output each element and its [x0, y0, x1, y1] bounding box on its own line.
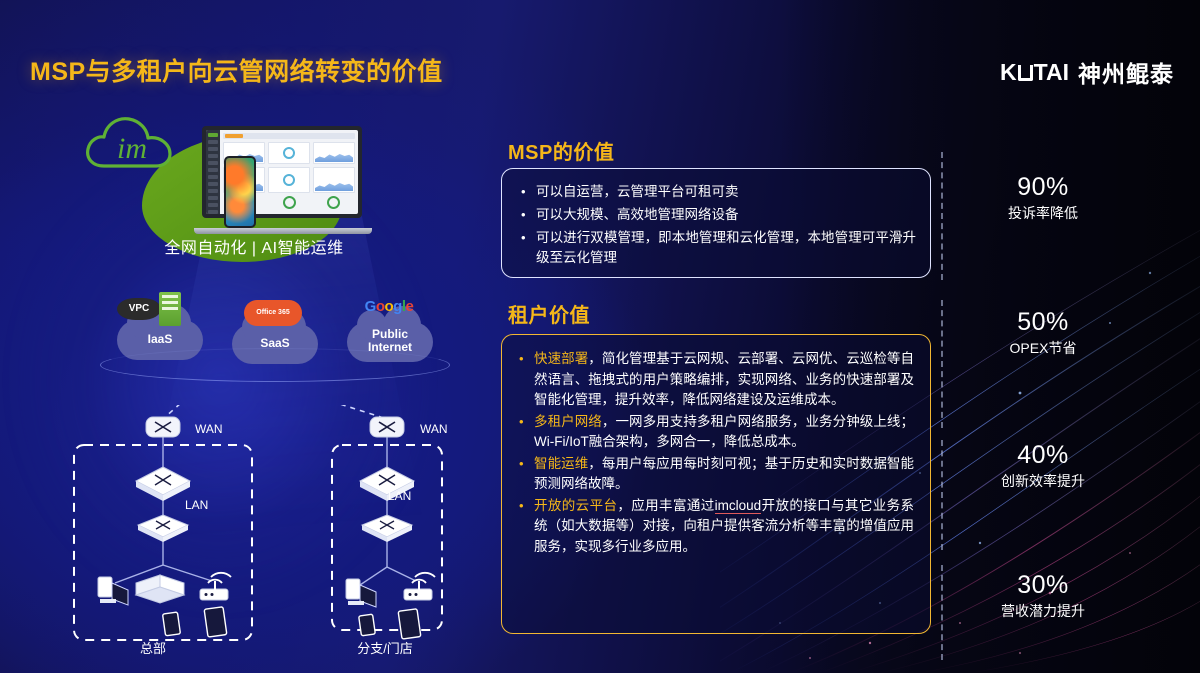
network-topology-diagram [60, 405, 480, 660]
gauge-icon [283, 196, 296, 209]
msp-bullet-list: 可以自运营，云管理平台可租可卖 可以大规模、高效地管理网络设备 可以进行双模管理… [502, 169, 930, 268]
brand-logo: K TAI 神州鲲泰 [1000, 55, 1174, 89]
stat-label: OPEX节省 [948, 338, 1138, 358]
list-item: 多租户网络，一网多用支持多租户网络服务，业务分钟级上线；Wi-Fi/IoT融合架… [514, 412, 914, 453]
im-cloud-logo-icon: im [84, 108, 184, 180]
cloud-label: SaaS [232, 337, 318, 350]
msp-value-panel: 可以自运营，云管理平台可租可卖 可以大规模、高效地管理网络设备 可以进行双模管理… [501, 168, 931, 278]
stat-item-2: 50% OPEX节省 [948, 307, 1138, 358]
dashboard-sidebar [206, 130, 220, 214]
page-title: MSP与多租户向云管网络转变的价值 [30, 52, 443, 88]
logo-chinese-name: 神州鲲泰 [1078, 55, 1174, 89]
workstation-branch [346, 579, 376, 607]
lan-label-branch: LAN [388, 489, 411, 503]
dashboard-card [268, 167, 310, 193]
wireless-ap-hq [200, 573, 231, 600]
dashboard-card [313, 167, 355, 193]
msp-section-title: MSP的价值 [508, 136, 614, 165]
list-item: 快速部署，简化管理基于云网规、云部署、云网优、云巡检等自然语言、拖拽式的用户策略… [514, 349, 914, 411]
cloud-label: IaaS [117, 333, 203, 346]
list-item: 可以自运营，云管理平台可租可卖 [516, 182, 916, 202]
stat-label: 创新效率提升 [948, 471, 1138, 491]
office365-badge: Office 365 [244, 300, 302, 326]
site-label-hq: 总部 [93, 638, 213, 657]
stat-label: 投诉率降低 [948, 203, 1138, 223]
gauge-icon [327, 196, 340, 209]
google-letter: g [393, 298, 402, 315]
stat-label: 营收潜力提升 [948, 601, 1138, 621]
lan-label-hq: LAN [185, 498, 208, 512]
wan-label-branch: WAN [420, 422, 448, 436]
logo-letter-u [1018, 65, 1033, 81]
switch-access-branch [362, 515, 412, 542]
stat-value: 90% [948, 172, 1138, 202]
dashboard-card [268, 142, 310, 164]
site-label-branch: 分支/门店 [325, 638, 445, 657]
laptop-device [194, 126, 372, 234]
list-item: 开放的云平台，应用丰富通过imcloud开放的接口与其它业务系统（如大数据等）对… [514, 496, 914, 558]
cloud-label: Public Internet [347, 328, 433, 354]
bullet-keyword: 智能运维 [534, 456, 588, 471]
stat-value: 50% [948, 307, 1138, 337]
tenant-section-title: 租户价值 [508, 299, 590, 328]
tablet-branch-1 [359, 614, 376, 636]
list-item: 智能运维，每用户每应用每时刻可视；基于历史和实时数据智能预测网络故障。 [514, 454, 914, 495]
phone-device [224, 156, 256, 228]
stats-divider-3 [941, 440, 943, 550]
google-badge: Google [351, 298, 427, 315]
tenant-bullet-list: 快速部署，简化管理基于云网规、云部署、云网优、云巡检等自然语言、拖拽式的用户策略… [502, 335, 930, 557]
stat-value: 30% [948, 570, 1138, 600]
illustration-caption: 全网自动化 | AI智能运维 [84, 234, 424, 258]
server-icon [159, 292, 181, 326]
logo-letters-tai: TAI [1034, 59, 1069, 86]
dashboard-topbar [223, 133, 355, 139]
logo-wordmark: K TAI [1000, 59, 1069, 86]
dashboard-card [313, 142, 355, 164]
phone-heatmap-screen [226, 158, 254, 226]
stat-item-1: 90% 投诉率降低 [948, 172, 1138, 223]
switch-access-hq [138, 515, 188, 542]
stat-value: 40% [948, 440, 1138, 470]
switch-core-hq [136, 467, 190, 501]
router-wan-hq [146, 417, 180, 437]
workstation-hq [98, 577, 128, 605]
bullet-keyword: 多租户网络 [534, 414, 602, 429]
stats-divider-1 [941, 152, 943, 280]
tablet-hq-1 [163, 612, 181, 636]
bullet-keyword: 快速部署 [534, 351, 588, 366]
bullet-keyword: 开放的云平台 [534, 498, 617, 513]
slide-root: MSP与多租户向云管网络转变的价值 K TAI 神州鲲泰 im [0, 0, 1200, 673]
logo-letter-k: K [1000, 59, 1017, 86]
stats-divider-2 [941, 300, 943, 428]
stats-divider-4 [941, 565, 943, 660]
google-letter: o [384, 298, 393, 315]
bullet-underlined-term: imcloud [715, 498, 762, 514]
cloud-services-group: VPC IaaS Office 365 SaaS Google Public I… [100, 300, 450, 380]
vpc-badge: VPC [117, 298, 161, 320]
cloud-label-line2: Internet [347, 341, 433, 354]
server-hq [136, 575, 184, 603]
tablet-hq-2 [204, 607, 227, 637]
wan-label-hq: WAN [195, 422, 223, 436]
tenant-value-panel: 快速部署，简化管理基于云网规、云部署、云网优、云巡检等自然语言、拖拽式的用户策略… [501, 334, 931, 634]
list-item: 可以进行双模管理，即本地管理和云化管理，本地管理可平滑升级至云化管理 [516, 228, 916, 268]
svg-text:im: im [117, 132, 147, 165]
stat-item-3: 40% 创新效率提升 [948, 440, 1138, 491]
router-wan-branch [370, 417, 404, 437]
tablet-branch-2 [398, 609, 421, 639]
google-letter: e [406, 298, 414, 315]
google-letter: G [365, 298, 376, 315]
stat-item-4: 30% 营收潜力提升 [948, 570, 1138, 621]
list-item: 可以大规模、高效地管理网络设备 [516, 205, 916, 225]
